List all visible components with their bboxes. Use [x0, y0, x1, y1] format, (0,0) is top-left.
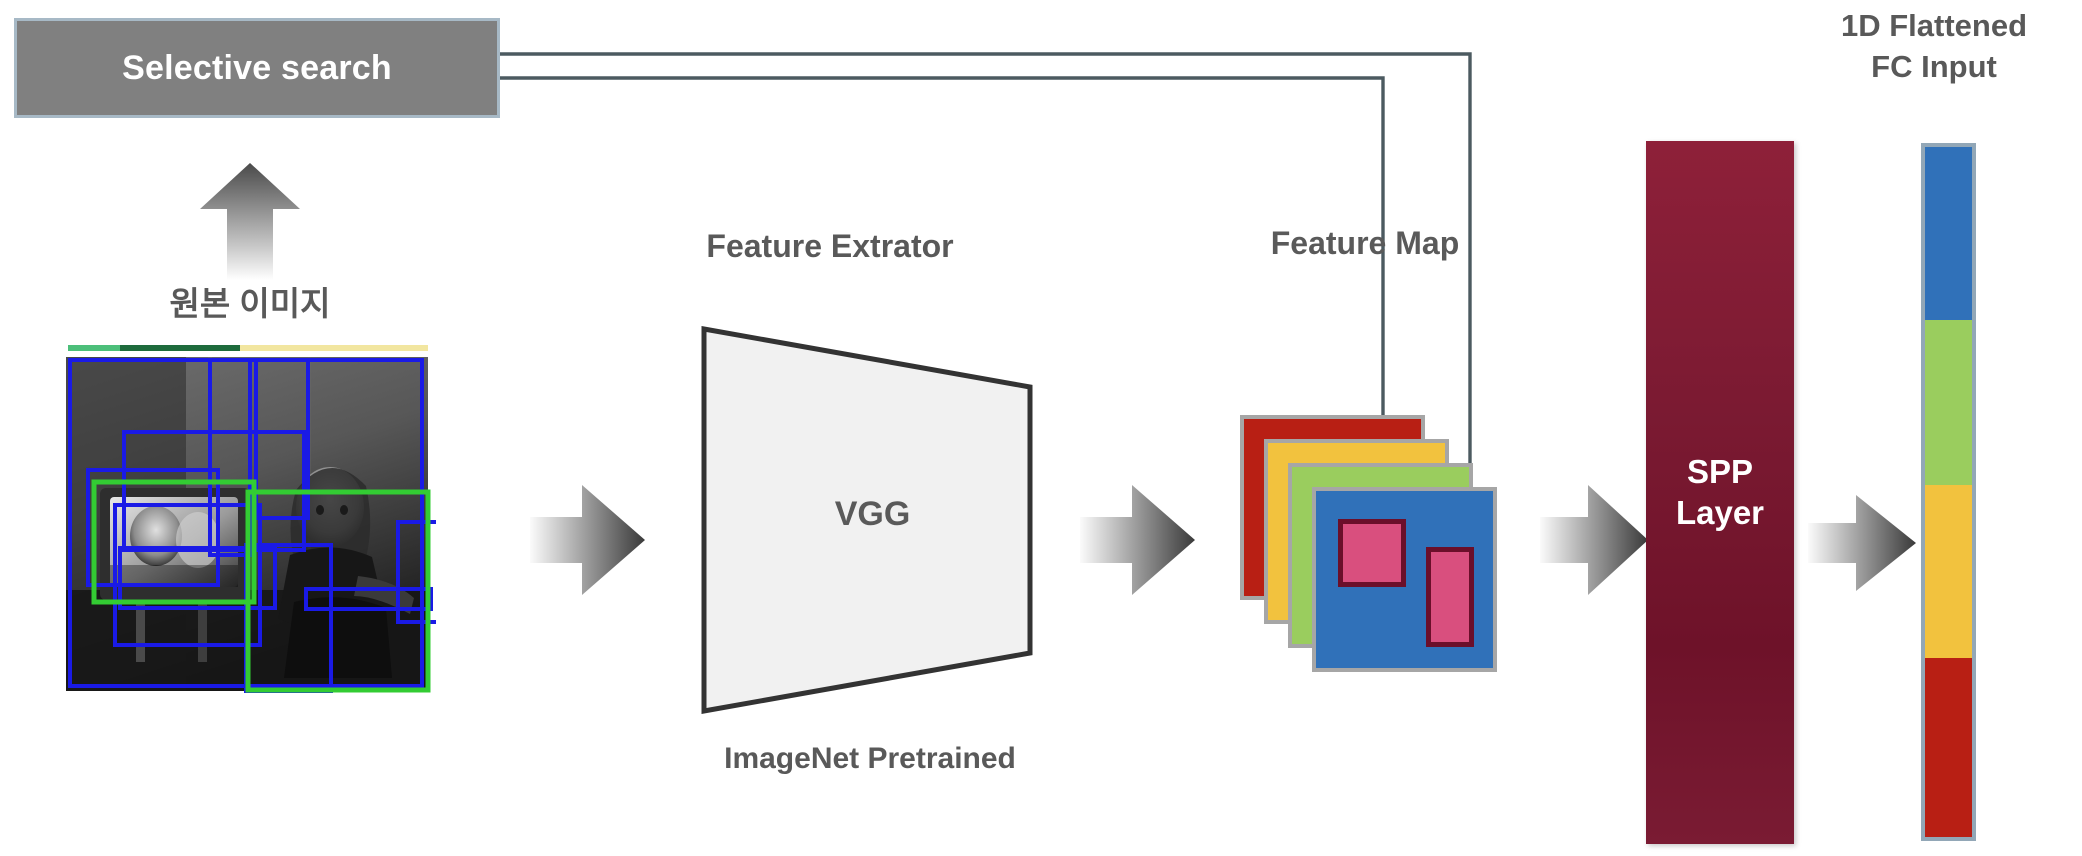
flow-arrow-vgg-to-featuremap	[1080, 485, 1195, 595]
fc-segment-blue	[1925, 147, 1972, 320]
feature-map-layer-blue	[1312, 487, 1497, 672]
original-image-up-arrow	[200, 163, 300, 280]
feature-map-stack	[1240, 415, 1500, 690]
selective-search-label: Selective search	[122, 49, 392, 88]
flow-arrow-featuremap-to-spp	[1540, 485, 1648, 595]
feature-extractor-title: Feature Extrator	[620, 228, 1040, 265]
fc-input-column	[1921, 143, 1976, 841]
original-image-caption: 원본 이미지	[60, 277, 440, 325]
fc-input-title: 1D Flattened FC Input	[1786, 6, 2082, 88]
flow-arrow-spp-to-fcinput	[1808, 495, 1916, 591]
fc-segment-red	[1925, 658, 1972, 837]
spp-layer-block[interactable]: SPP Layer	[1646, 141, 1794, 844]
imagenet-pretrained-caption: ImageNet Pretrained	[620, 742, 1120, 776]
spp-label-line1: SPP	[1687, 453, 1753, 490]
fc-segment-green	[1925, 320, 1972, 486]
roi-square-region	[1338, 519, 1406, 587]
selective-search-box[interactable]: Selective search	[14, 18, 500, 118]
original-image-thumbnail	[58, 340, 436, 695]
fc-input-title-line2: FC Input	[1871, 49, 1997, 84]
spp-layer-label: SPP Layer	[1676, 452, 1764, 533]
feature-map-title: Feature Map	[1215, 225, 1515, 262]
diagram-canvas: Selective search 원본 이미지	[0, 0, 2082, 856]
flow-arrow-image-to-vgg	[530, 485, 645, 595]
fc-input-title-line1: 1D Flattened	[1841, 8, 2027, 43]
spp-label-line2: Layer	[1676, 494, 1764, 531]
vgg-label: VGG	[700, 495, 1045, 534]
roi-tall-region	[1426, 547, 1474, 647]
fc-segment-yellow	[1925, 485, 1972, 658]
